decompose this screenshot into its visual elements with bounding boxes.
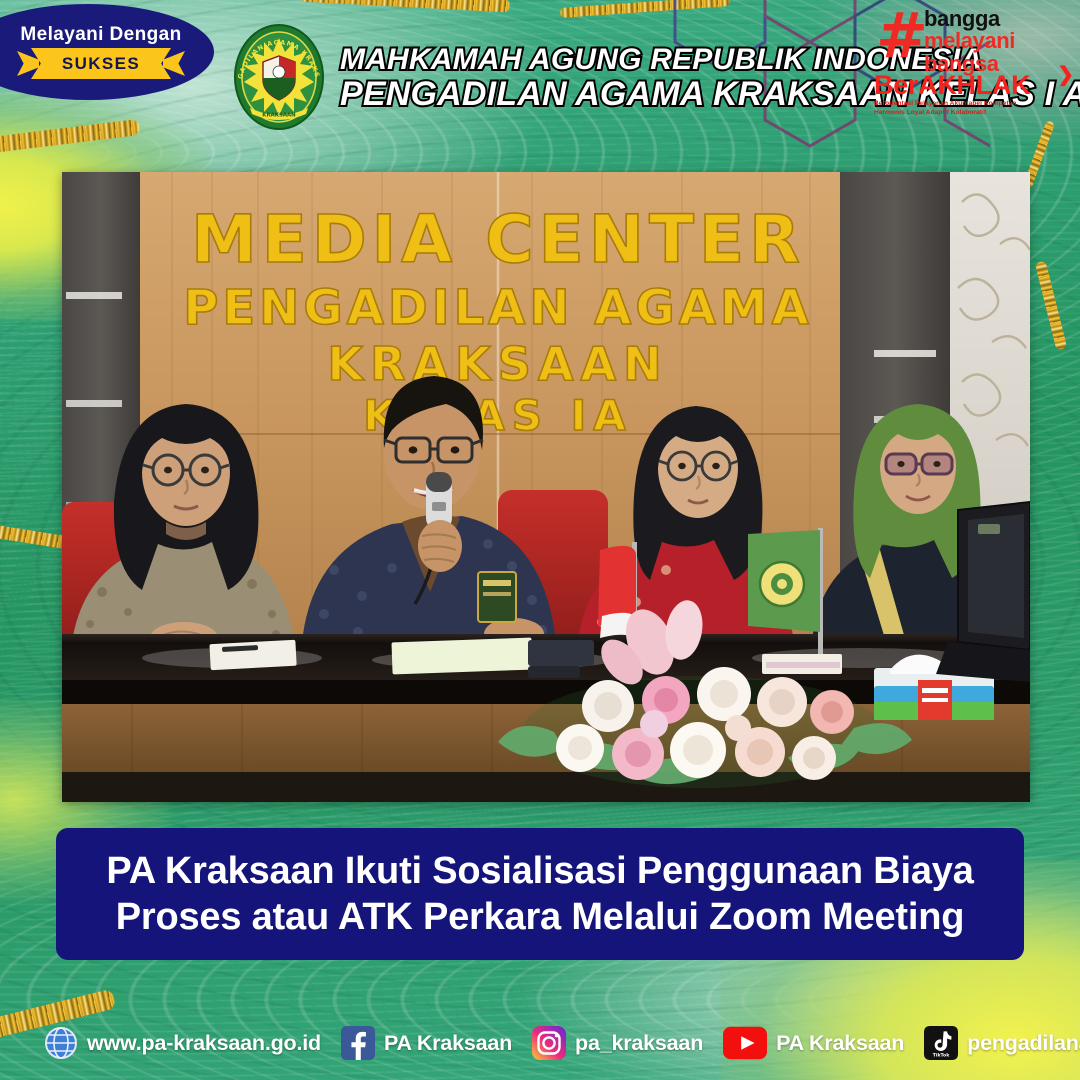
facebook-icon <box>341 1026 375 1060</box>
footer-item-facebook[interactable]: PA Kraksaan <box>341 1026 512 1060</box>
berakhlak-logo: ❯ BerAKHLAK Berorientasi Pelayanan Akunt… <box>874 72 1074 118</box>
footer-item-instagram[interactable]: pa_kraksaan <box>532 1026 703 1060</box>
svg-text:TikTok: TikTok <box>933 1053 950 1059</box>
sukses-ribbon: SUKSES <box>17 48 185 79</box>
event-photo: MEDIA CENTER PENGADILAN AGAMA KRAKSAAN K… <box>62 172 1030 802</box>
sign-line-1: MEDIA CENTER <box>191 201 805 278</box>
berakhlak-subtitle-line1: Berorientasi Pelayanan Akuntabel Kompete… <box>874 100 1070 109</box>
social-footer: www.pa-kraksaan.go.id PA Kraksaan <box>0 1012 1080 1074</box>
seal-banner-text: KRAKSAAN <box>262 113 296 119</box>
hash-icon: # <box>876 10 922 64</box>
sign-line-2: PENGADILAN AGAMA <box>183 280 813 336</box>
footer-label-website: www.pa-kraksaan.go.id <box>87 1031 321 1056</box>
header-title-line1: MAHKAMAH AGUNG REPUBLIK INDONESIA <box>340 44 900 75</box>
poster-root: Melayani Dengan SUKSES <box>0 0 1080 1080</box>
chevron-right-icon: ❯ <box>1057 62 1074 87</box>
footer-label-facebook: PA Kraksaan <box>384 1031 512 1056</box>
berakhlak-subtitle-line2: Harmonis Loyal Adaptif Kolaboratif <box>874 109 1070 118</box>
bangga-melayani-bangsa-logo: # bangga melayani bangsa <box>876 4 1068 78</box>
pengadilan-agama-seal-icon: PENGADILAN AGAMA KRAKSAAN KRAKSAAN <box>228 22 330 132</box>
bangga-text-lines: bangga melayani bangsa <box>924 8 1015 75</box>
poster-header: Melayani Dengan SUKSES <box>0 0 1080 140</box>
footer-item-website[interactable]: www.pa-kraksaan.go.id <box>44 1026 321 1060</box>
melayani-dengan-sukses-badge: Melayani Dengan SUKSES <box>0 4 214 100</box>
bangga-line2: melayani <box>924 30 1015 52</box>
tiktok-icon: TikTok <box>924 1026 958 1060</box>
caption-banner: PA Kraksaan Ikuti Sosialisasi Penggunaan… <box>56 828 1024 960</box>
globe-icon <box>44 1026 78 1060</box>
caption-line-2: Proses atau ATK Perkara Melalui Zoom Mee… <box>116 894 965 940</box>
caption-line-1: PA Kraksaan Ikuti Sosialisasi Penggunaan… <box>106 848 973 894</box>
ribbon-body: SUKSES <box>31 48 171 79</box>
instagram-icon <box>532 1026 566 1060</box>
header-title-line2: PENGADILAN AGAMA KRAKSAAN KELAS I A <box>340 77 900 112</box>
footer-item-youtube[interactable]: PA Kraksaan <box>723 1026 904 1060</box>
badge-top-text: Melayani Dengan <box>20 25 181 44</box>
footer-label-tiktok: pengadilanagamakraksaan <box>967 1031 1080 1056</box>
sign-line-3: KRAKSAAN <box>327 337 668 391</box>
footer-label-instagram: pa_kraksaan <box>575 1031 703 1056</box>
ribbon-label: SUKSES <box>62 54 140 74</box>
footer-item-tiktok[interactable]: TikTok pengadilanagamakraksaan <box>924 1026 1080 1060</box>
berakhlak-title: BerAKHLAK <box>874 72 1074 99</box>
youtube-icon <box>723 1026 767 1060</box>
bangga-line1: bangga <box>924 8 1015 30</box>
header-title-block: MAHKAMAH AGUNG REPUBLIK INDONESIA PENGAD… <box>340 44 900 113</box>
photo-illustration: MEDIA CENTER PENGADILAN AGAMA KRAKSAAN K… <box>62 172 1030 802</box>
footer-label-youtube: PA Kraksaan <box>776 1031 904 1056</box>
